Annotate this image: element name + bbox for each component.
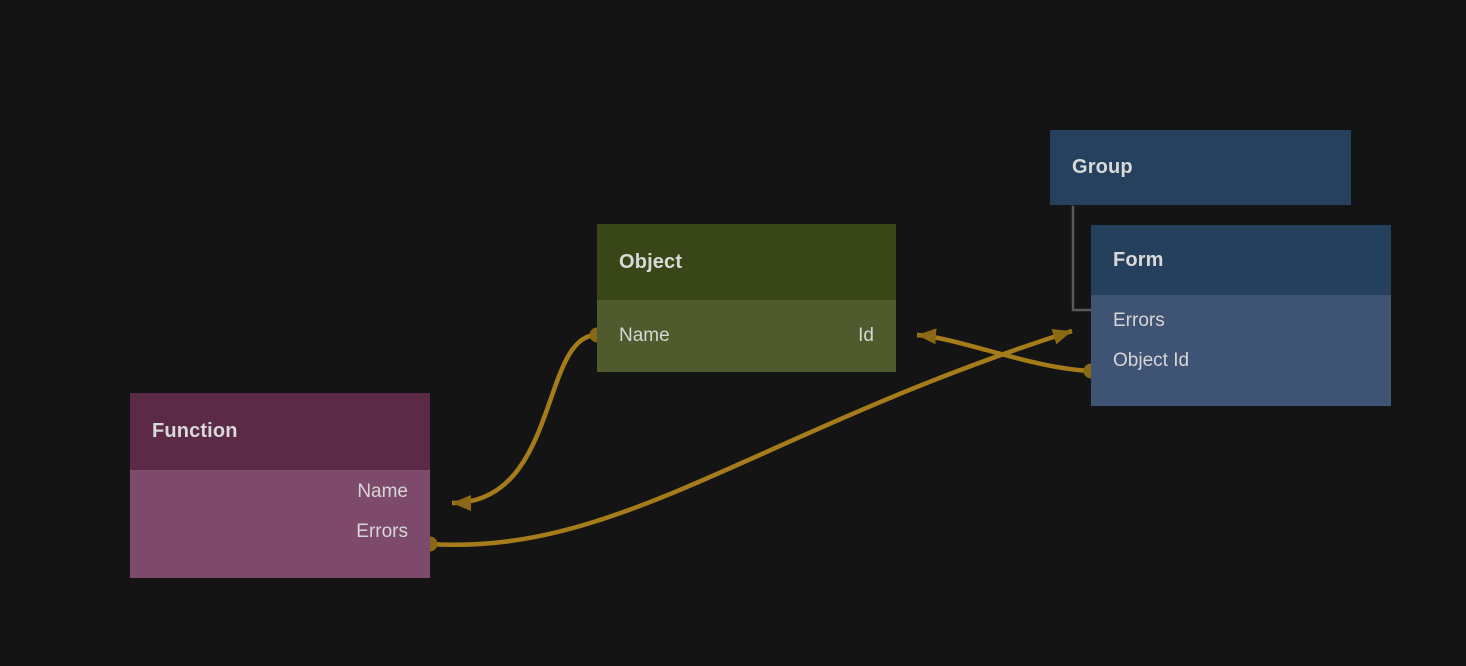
- node-group[interactable]: Group: [1050, 130, 1351, 205]
- node-object-header[interactable]: Object: [597, 224, 896, 300]
- node-form[interactable]: Form Errors Object Id: [1091, 225, 1391, 406]
- node-form-body: Errors Object Id: [1091, 295, 1391, 406]
- field-row[interactable]: Errors: [1091, 301, 1391, 341]
- node-function-body: Name Errors: [130, 470, 430, 578]
- field-label-object-name: Name: [619, 325, 670, 347]
- field-row[interactable]: Name: [130, 472, 430, 512]
- field-row[interactable]: Object Id: [1091, 341, 1391, 381]
- edge-object-name-to-function-name: [452, 335, 597, 503]
- node-object-title: Object: [619, 251, 682, 274]
- field-row[interactable]: Errors: [130, 512, 430, 552]
- node-form-header[interactable]: Form: [1091, 225, 1391, 295]
- field-label-form-errors: Errors: [1113, 310, 1165, 332]
- edge-form-objectid-to-object-id: [917, 335, 1091, 371]
- field-row[interactable]: Name Id: [597, 300, 896, 372]
- field-label-form-object-id: Object Id: [1113, 350, 1189, 372]
- node-group-header[interactable]: Group: [1050, 130, 1351, 205]
- tree-connector-group-to-form: [1073, 207, 1092, 310]
- node-function-title: Function: [152, 420, 238, 443]
- field-label-function-errors: Errors: [356, 521, 408, 543]
- node-form-title: Form: [1113, 249, 1164, 272]
- graph-canvas[interactable]: Group Form Errors Object Id Object Name …: [0, 0, 1466, 666]
- field-label-object-id: Id: [858, 325, 874, 347]
- node-function[interactable]: Function Name Errors: [130, 393, 430, 578]
- node-object-body: Name Id: [597, 300, 896, 372]
- field-label-function-name: Name: [357, 481, 408, 503]
- node-object[interactable]: Object Name Id: [597, 224, 896, 372]
- node-function-header[interactable]: Function: [130, 393, 430, 470]
- node-group-title: Group: [1072, 156, 1133, 179]
